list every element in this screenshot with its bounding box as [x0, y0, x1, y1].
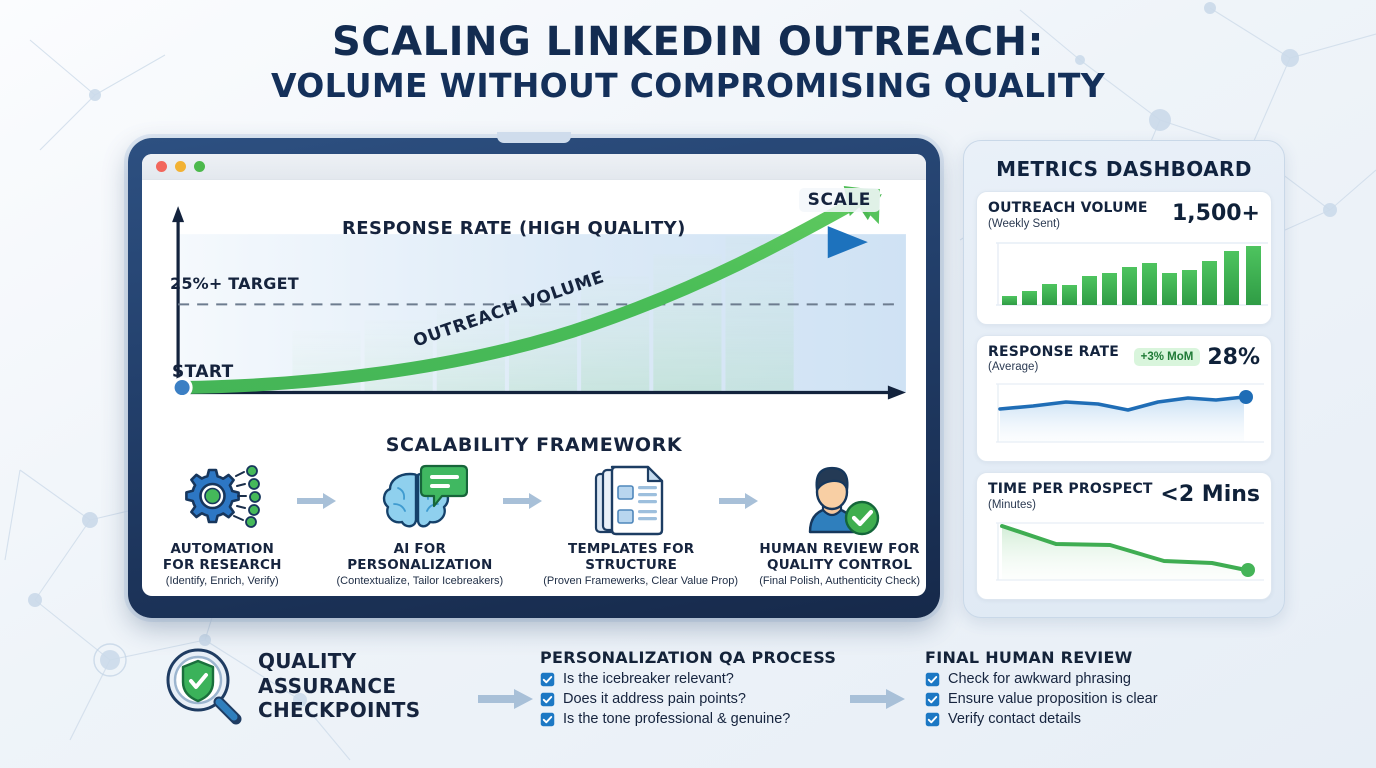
metric-label: RESPONSE RATE — [988, 345, 1119, 361]
flow-arrow-2 — [503, 462, 543, 540]
qa-checkpoints-section: QUALITY ASSURANCE CHECKPOINTS PERSONALIZ… — [0, 636, 1376, 768]
tablet-device-frame: RESPONSE RATE (HIGH QUALITY) SCALE 25%+ … — [128, 138, 940, 618]
brain-chat-icon — [372, 464, 468, 538]
outreach-volume-bar-chart — [988, 237, 1276, 311]
step-label-line1: HUMAN REVIEW FOR — [759, 541, 919, 557]
scale-label: SCALE — [799, 188, 880, 212]
qa-item-text: Ensure value proposition is clear — [948, 691, 1158, 707]
metric-card-outreach-volume[interactable]: OUTREACH VOLUME (Weekly Sent) 1,500+ — [976, 191, 1272, 325]
flow-arrow-3 — [719, 462, 759, 540]
step-label-line2: PERSONALIZATION — [347, 557, 492, 573]
qa-item-text: Is the tone professional & genuine? — [563, 711, 790, 727]
start-label: START — [172, 362, 234, 382]
dashboard-title: METRICS DASHBOARD — [976, 157, 1272, 181]
qa-checklist-item[interactable]: Check for awkward phrasing — [925, 671, 1158, 687]
step-sublabel: (Final Polish, Authenticity Check) — [759, 575, 920, 587]
metric-value: <2 Mins — [1160, 482, 1260, 507]
gear-network-icon — [176, 464, 268, 538]
framework-step-templates[interactable]: TEMPLATES FOR STRUCTURE (Proven Framewer… — [543, 462, 719, 587]
documents-icon — [588, 464, 674, 538]
qa-item-text: Is the icebreaker relevant? — [563, 671, 734, 687]
metric-sublabel: (Minutes) — [988, 499, 1153, 511]
person-check-icon — [796, 464, 884, 538]
step-sublabel: (Proven Framewerks, Clear Value Prop) — [543, 575, 719, 587]
time-per-prospect-area-chart — [988, 518, 1276, 586]
qa-checklist-item[interactable]: Verify contact details — [925, 711, 1158, 727]
checkbox-checked-icon[interactable] — [540, 672, 555, 687]
qa-flow-arrow-2 — [850, 688, 906, 710]
flow-arrow-1 — [297, 462, 337, 540]
metrics-dashboard-panel: METRICS DASHBOARD OUTREACH VOLUME (Weekl… — [963, 140, 1285, 618]
growth-chart: RESPONSE RATE (HIGH QUALITY) SCALE 25%+ … — [142, 180, 926, 432]
framework-title: SCALABILITY FRAMEWORK — [142, 434, 926, 456]
qa-item-text: Verify contact details — [948, 711, 1081, 727]
step-label-line1: TEMPLATES FOR — [568, 541, 694, 557]
qa-checklist-item[interactable]: Does it address pain points? — [540, 691, 836, 707]
metric-sublabel: (Weekly Sent) — [988, 218, 1148, 230]
response-rate-label: RESPONSE RATE (HIGH QUALITY) — [342, 218, 686, 239]
maximize-traffic-light-icon[interactable] — [194, 161, 205, 172]
metric-card-time-per-prospect[interactable]: TIME PER PROSPECT (Minutes) <2 Mins — [976, 472, 1272, 600]
minimize-traffic-light-icon[interactable] — [175, 161, 186, 172]
title-line-1: SCALING LINKEDIN OUTREACH: — [0, 22, 1376, 63]
framework-step-ai-personalization[interactable]: AI FOR PERSONALIZATION (Contextualize, T… — [337, 462, 504, 587]
qa-checklist-item[interactable]: Ensure value proposition is clear — [925, 691, 1158, 707]
metric-sublabel: (Average) — [988, 361, 1119, 373]
response-rate-sparkline — [988, 380, 1276, 448]
checkbox-checked-icon[interactable] — [540, 712, 555, 727]
metric-label: TIME PER PROSPECT — [988, 482, 1153, 498]
checkbox-checked-icon[interactable] — [925, 712, 940, 727]
metric-value: 1,500+ — [1172, 201, 1260, 226]
tablet-screen: RESPONSE RATE (HIGH QUALITY) SCALE 25%+ … — [142, 154, 926, 596]
qa-item-text: Check for awkward phrasing — [948, 671, 1131, 687]
qa-column-title: PERSONALIZATION QA PROCESS — [540, 648, 836, 667]
qa-column-title: FINAL HUMAN REVIEW — [925, 648, 1158, 667]
magnifier-shield-check-icon — [160, 644, 244, 728]
tablet-notch — [497, 132, 571, 143]
step-sublabel: (Contextualize, Tailor Icebreakers) — [337, 575, 504, 587]
qa-heading-line3: CHECKPOINTS — [258, 698, 420, 722]
step-sublabel: (Identify, Enrich, Verify) — [148, 575, 297, 587]
qa-item-text: Does it address pain points? — [563, 691, 746, 707]
checkbox-checked-icon[interactable] — [925, 692, 940, 707]
metric-card-response-rate[interactable]: RESPONSE RATE (Average) +3% MoM 28% — [976, 335, 1272, 463]
checkbox-checked-icon[interactable] — [540, 692, 555, 707]
framework-step-human-review[interactable]: HUMAN REVIEW FOR QUALITY CONTROL (Final … — [759, 462, 920, 587]
close-traffic-light-icon[interactable] — [156, 161, 167, 172]
qa-checklist-item[interactable]: Is the tone professional & genuine? — [540, 711, 836, 727]
qa-heading-line2: ASSURANCE — [258, 674, 420, 698]
step-label-line1: AUTOMATION — [170, 541, 274, 557]
metric-label: OUTREACH VOLUME — [988, 201, 1148, 217]
window-chrome-bar — [142, 154, 926, 180]
step-label-line2: QUALITY CONTROL — [767, 557, 912, 573]
step-label-line1: AI FOR — [394, 541, 446, 557]
target-label: 25%+ TARGET — [170, 274, 299, 293]
page-title: SCALING LINKEDIN OUTREACH: VOLUME WITHOU… — [0, 22, 1376, 104]
checkbox-checked-icon[interactable] — [925, 672, 940, 687]
qa-checklist-item[interactable]: Is the icebreaker relevant? — [540, 671, 836, 687]
qa-heading-line1: QUALITY — [258, 649, 420, 673]
qa-flow-arrow-1 — [478, 688, 534, 710]
status-badge: +3% MoM — [1134, 348, 1201, 366]
qa-heading-block: QUALITY ASSURANCE CHECKPOINTS — [160, 644, 420, 728]
title-line-2: VOLUME WITHOUT COMPROMISING QUALITY — [0, 68, 1376, 104]
framework-steps-row: AUTOMATION FOR RESEARCH (Identify, Enric… — [142, 456, 926, 587]
qa-column-final-review: FINAL HUMAN REVIEW Check for awkward phr… — [925, 648, 1158, 727]
step-label-line2: STRUCTURE — [585, 557, 677, 573]
qa-column-personalization: PERSONALIZATION QA PROCESS Is the icebre… — [540, 648, 836, 727]
step-label-line2: FOR RESEARCH — [163, 557, 282, 573]
metric-value: 28% — [1207, 345, 1260, 370]
framework-step-automation[interactable]: AUTOMATION FOR RESEARCH (Identify, Enric… — [148, 462, 297, 587]
